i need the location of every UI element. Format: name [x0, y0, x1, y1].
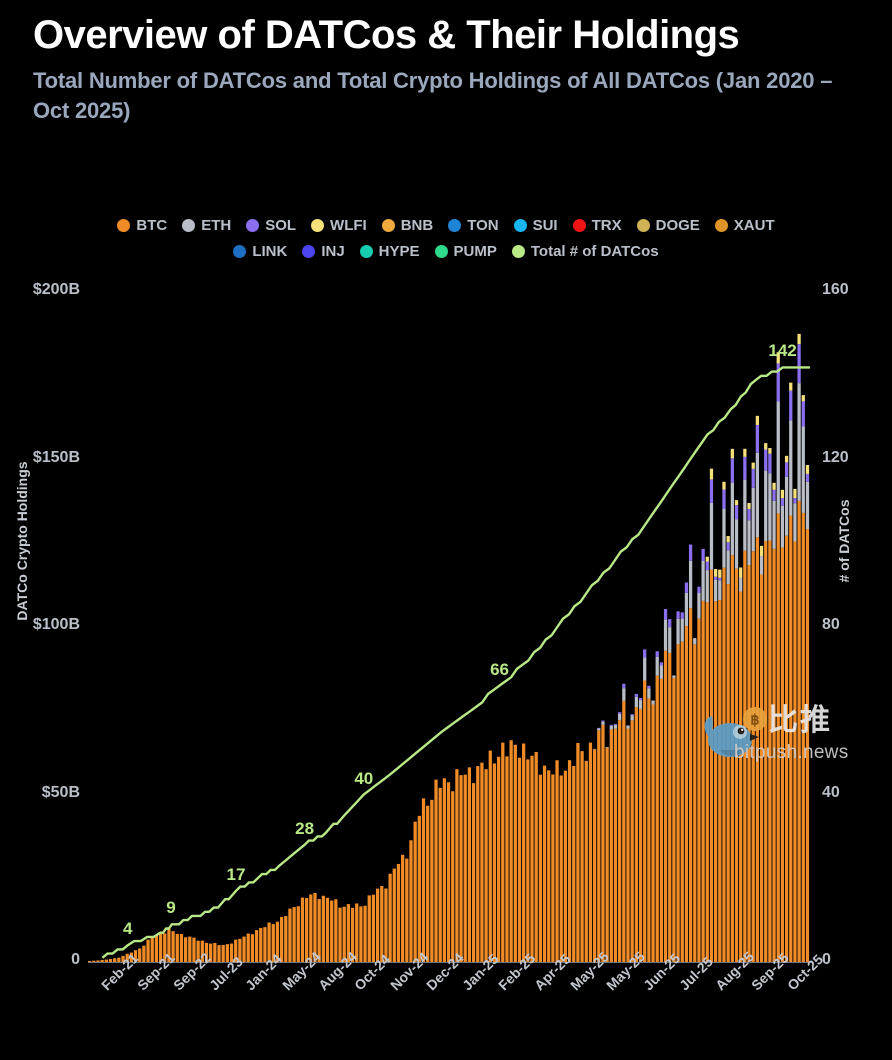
legend-swatch-icon — [637, 219, 650, 232]
legend-label: Total # of DATCos — [531, 243, 659, 260]
legend-label: PUMP — [454, 243, 497, 260]
legend-item-link[interactable]: LINK — [233, 243, 287, 260]
legend-item-btc[interactable]: BTC — [117, 217, 167, 234]
legend-item-inj[interactable]: INJ — [302, 243, 344, 260]
legend-label: DOGE — [656, 217, 700, 234]
legend-item-doge[interactable]: DOGE — [637, 217, 700, 234]
legend-label: WLFI — [330, 217, 367, 234]
legend-row-primary: BTCETHSOLWLFIBNBTONSUITRXDOGEXAUT — [0, 212, 892, 238]
legend-item-sui[interactable]: SUI — [514, 217, 558, 234]
chart-header: Overview of DATCos & Their Holdings Tota… — [33, 12, 853, 126]
data-label: 142 — [768, 341, 796, 361]
data-label: 4 — [123, 919, 132, 939]
y-axis-left-tick: $150B — [33, 449, 80, 467]
legend-swatch-icon — [182, 219, 195, 232]
data-label: 9 — [166, 898, 175, 918]
watermark: ฿ 比推 bitpush.news — [694, 702, 892, 780]
plot-region: 4917284066142 — [88, 292, 810, 962]
legend-label: ETH — [201, 217, 231, 234]
watermark-cn-text: 比推 — [768, 704, 832, 738]
data-label: 17 — [227, 865, 246, 885]
legend-swatch-icon — [382, 219, 395, 232]
legend-item-sol[interactable]: SOL — [246, 217, 296, 234]
legend-item-bnb[interactable]: BNB — [382, 217, 434, 234]
legend-label: SUI — [533, 217, 558, 234]
legend-item-total-of-datcos[interactable]: Total # of DATCos — [512, 243, 659, 260]
page-subtitle: Total Number of DATCos and Total Crypto … — [33, 66, 853, 126]
legend-label: HYPE — [379, 243, 420, 260]
legend-swatch-icon — [514, 219, 527, 232]
legend-item-wlfi[interactable]: WLFI — [311, 217, 367, 234]
legend-label: LINK — [252, 243, 287, 260]
legend-swatch-icon — [117, 219, 130, 232]
chart-legend: BTCETHSOLWLFIBNBTONSUITRXDOGEXAUT LINKIN… — [0, 212, 892, 264]
legend-swatch-icon — [512, 245, 525, 258]
watermark-url: bitpush.news — [734, 742, 849, 764]
legend-swatch-icon — [302, 245, 315, 258]
legend-item-pump[interactable]: PUMP — [435, 243, 497, 260]
x-axis-labels: Feb-21Sep-21Sep-22Jul-23Jan-24May-24Aug-… — [0, 968, 892, 1060]
y-axis-right-title: # of DATCos — [836, 101, 852, 981]
legend-row-secondary: LINKINJHYPEPUMPTotal # of DATCos — [0, 238, 892, 264]
legend-label: BTC — [136, 217, 167, 234]
page-title: Overview of DATCos & Their Holdings — [33, 12, 853, 58]
legend-swatch-icon — [246, 219, 259, 232]
legend-item-eth[interactable]: ETH — [182, 217, 231, 234]
legend-label: TON — [467, 217, 498, 234]
legend-label: TRX — [592, 217, 622, 234]
total-datcos-line — [88, 292, 810, 962]
legend-label: SOL — [265, 217, 296, 234]
svg-text:฿: ฿ — [751, 712, 760, 728]
legend-label: BNB — [401, 217, 434, 234]
y-axis-left-tick: $50B — [42, 784, 80, 802]
chart-area: 0$50B$100B$150B$200B 04080120160 DATCo C… — [0, 278, 892, 698]
bitcoin-coin-icon: ฿ — [742, 706, 768, 732]
y-axis-left-title: DATCo Crypto Holdings — [14, 101, 30, 981]
legend-item-trx[interactable]: TRX — [573, 217, 622, 234]
data-label: 40 — [354, 769, 373, 789]
legend-item-xaut[interactable]: XAUT — [715, 217, 775, 234]
legend-swatch-icon — [435, 245, 448, 258]
legend-swatch-icon — [311, 219, 324, 232]
chart-page: Overview of DATCos & Their Holdings Tota… — [0, 0, 892, 782]
legend-swatch-icon — [360, 245, 373, 258]
y-axis-left-tick: $200B — [33, 281, 80, 299]
legend-label: XAUT — [734, 217, 775, 234]
y-axis-left-tick: $100B — [33, 616, 80, 634]
y-axis-left-tick: 0 — [71, 951, 80, 969]
legend-swatch-icon — [448, 219, 461, 232]
legend-swatch-icon — [573, 219, 586, 232]
legend-swatch-icon — [715, 219, 728, 232]
legend-item-hype[interactable]: HYPE — [360, 243, 420, 260]
legend-item-ton[interactable]: TON — [448, 217, 498, 234]
data-label: 66 — [490, 660, 509, 680]
legend-label: INJ — [321, 243, 344, 260]
legend-swatch-icon — [233, 245, 246, 258]
total-line-path — [102, 367, 810, 957]
data-label: 28 — [295, 819, 314, 839]
